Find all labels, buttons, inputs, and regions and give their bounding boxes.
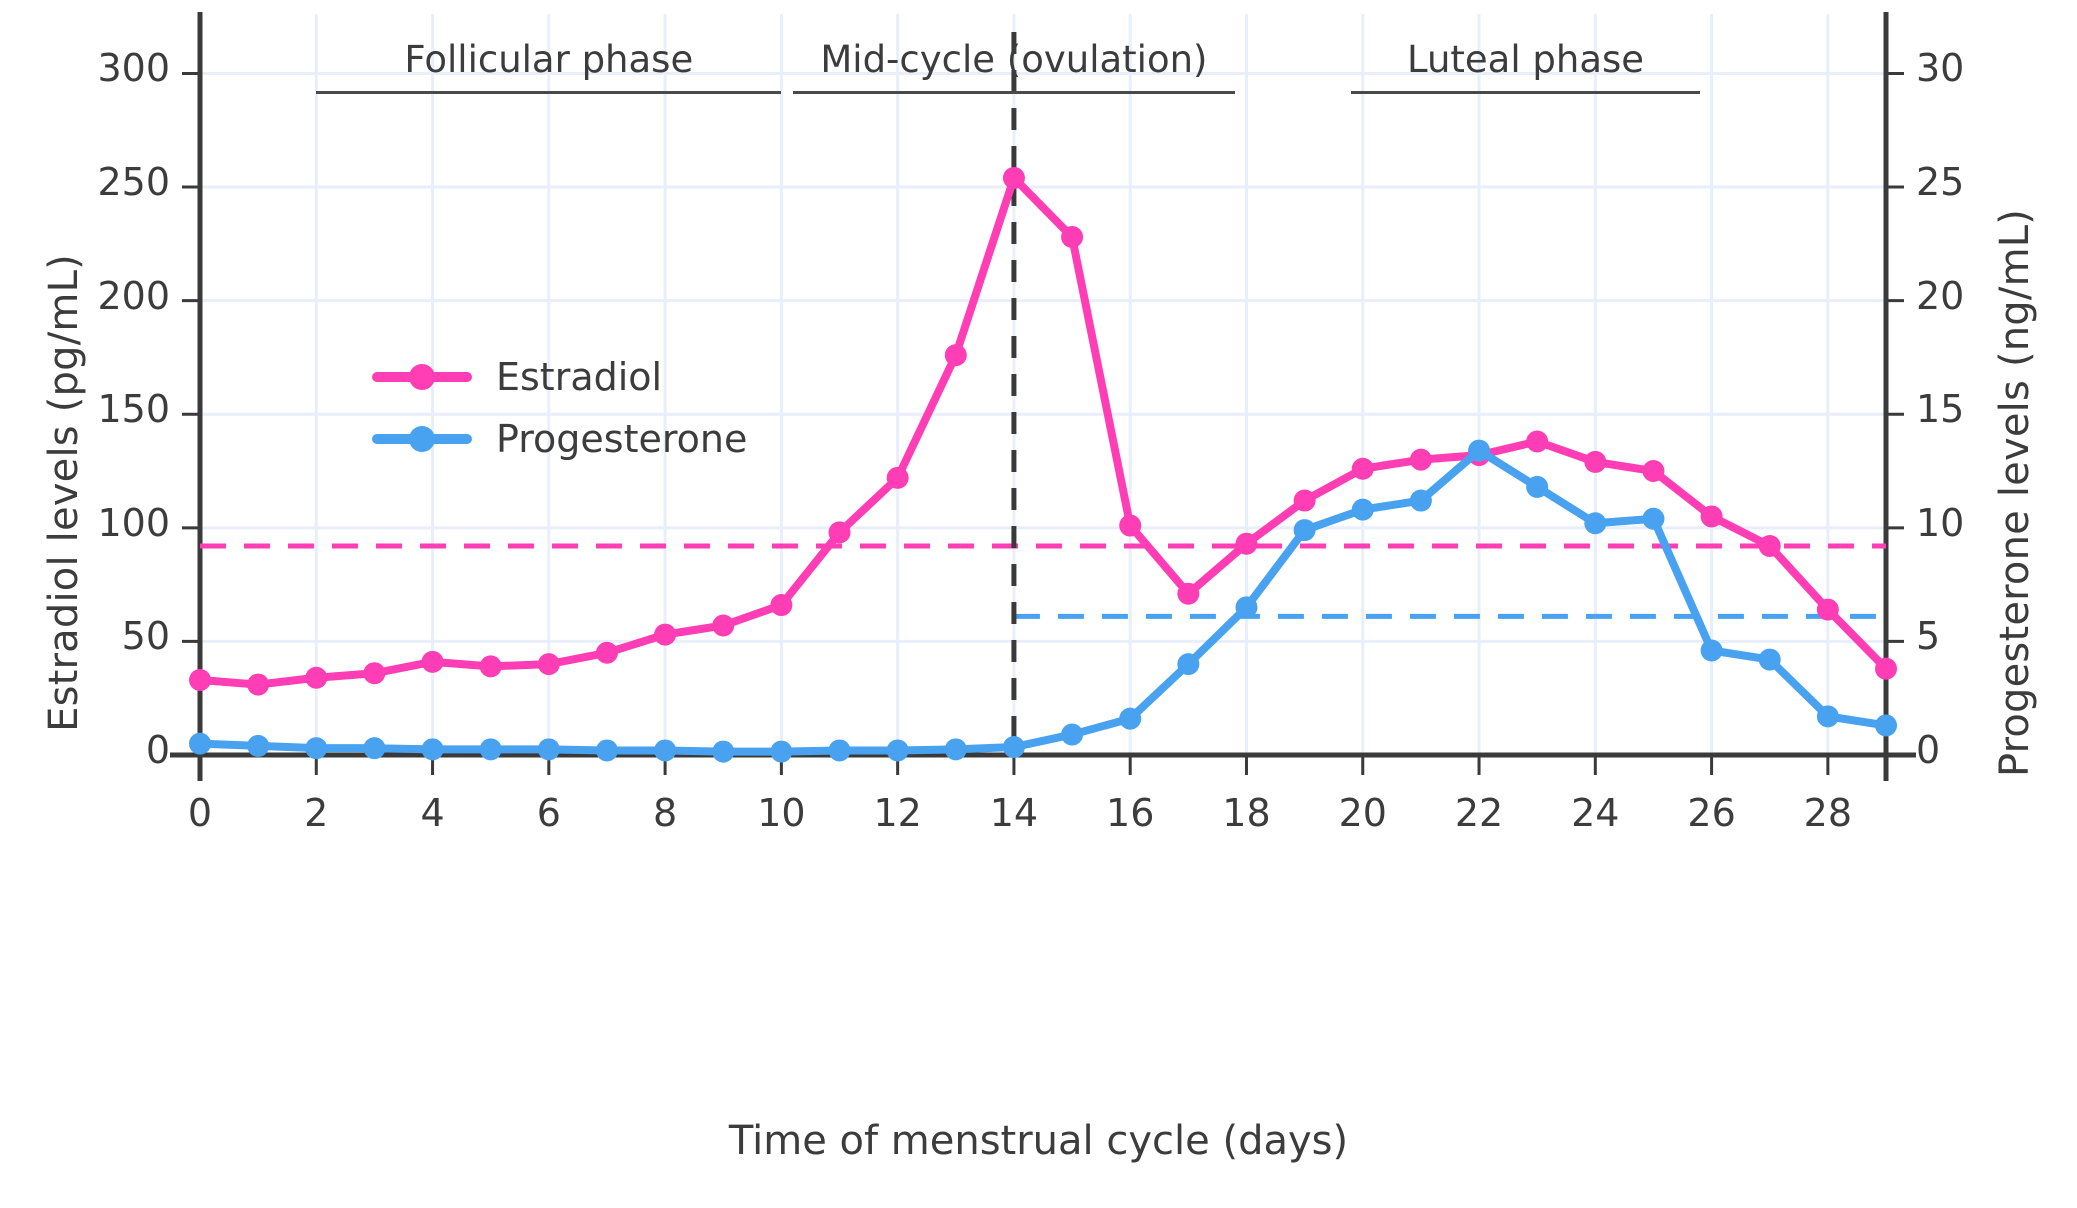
chart-canvas: Estradiol levels (pg/mL) Progesterone le…	[0, 0, 2077, 1208]
data-point-estradiol	[712, 615, 734, 637]
y-axis-right-tick-label: 30	[1916, 46, 2066, 90]
data-point-progesterone	[945, 738, 967, 760]
plot-area	[0, 0, 2077, 1208]
data-point-estradiol	[1875, 658, 1897, 680]
data-point-progesterone	[1759, 649, 1781, 671]
data-point-estradiol	[654, 624, 676, 646]
data-point-estradiol	[305, 667, 327, 689]
data-point-estradiol	[1177, 583, 1199, 605]
phase-annotation-label: Mid-cycle (ovulation)	[820, 38, 1207, 81]
y-axis-left-tick-label: 150	[20, 387, 170, 431]
phase-annotation-luteal-phase: Luteal phase	[1351, 38, 1700, 94]
data-point-progesterone	[1584, 512, 1606, 534]
data-point-estradiol	[1061, 226, 1083, 248]
data-point-progesterone	[363, 737, 385, 759]
data-point-progesterone	[480, 738, 502, 760]
data-point-estradiol	[1003, 167, 1025, 189]
y-axis-left-tick-label: 200	[20, 274, 170, 318]
y-axis-right-tick-label: 10	[1916, 501, 2066, 545]
data-point-estradiol	[1294, 490, 1316, 512]
x-axis-tick-label: 16	[1070, 791, 1190, 835]
data-point-progesterone	[1003, 736, 1025, 758]
legend-item-estradiol[interactable]: Estradiol	[372, 346, 747, 408]
data-point-estradiol	[1759, 535, 1781, 557]
phase-annotation-rule	[793, 91, 1235, 94]
data-point-progesterone	[596, 739, 618, 761]
y-axis-left-tick-label: 50	[20, 614, 170, 658]
x-axis-tick-label: 4	[373, 791, 493, 835]
y-axis-right-tick-label: 0	[1916, 728, 2066, 772]
data-point-estradiol	[538, 653, 560, 675]
series-line-progesterone	[200, 451, 1886, 752]
y-axis-right-tick-label: 20	[1916, 274, 2066, 318]
data-point-estradiol	[945, 344, 967, 366]
legend-item-progesterone[interactable]: Progesterone	[372, 408, 747, 470]
x-axis-tick-label: 22	[1419, 791, 1539, 835]
x-axis-tick-label: 24	[1535, 791, 1655, 835]
x-axis-tick-label: 18	[1186, 791, 1306, 835]
data-point-estradiol	[1352, 458, 1374, 480]
x-axis-tick-label: 14	[954, 791, 1074, 835]
data-point-progesterone	[1352, 499, 1374, 521]
data-point-estradiol	[829, 521, 851, 543]
data-point-estradiol	[1410, 449, 1432, 471]
phase-annotation-mid-cycle-ovulation: Mid-cycle (ovulation)	[793, 38, 1235, 94]
data-point-progesterone	[1235, 596, 1257, 618]
x-axis-tick-label: 2	[256, 791, 376, 835]
legend-label: Progesterone	[496, 417, 747, 461]
y-axis-right-tick-label: 15	[1916, 387, 2066, 431]
phase-annotation-rule	[316, 91, 781, 94]
data-point-progesterone	[1119, 708, 1141, 730]
data-point-estradiol	[1235, 533, 1257, 555]
data-point-progesterone	[1177, 653, 1199, 675]
data-point-progesterone	[712, 741, 734, 763]
x-axis-tick-label: 28	[1768, 791, 1888, 835]
data-point-progesterone	[538, 738, 560, 760]
data-point-estradiol	[363, 662, 385, 684]
legend-swatch-estradiol	[372, 372, 472, 382]
y-axis-right-tick-label: 25	[1916, 160, 2066, 204]
data-point-progesterone	[1701, 639, 1723, 661]
data-point-estradiol	[1526, 430, 1548, 452]
legend-marker-dot	[409, 426, 435, 452]
data-point-estradiol	[247, 674, 269, 696]
x-axis-tick-label: 6	[489, 791, 609, 835]
data-point-progesterone	[1817, 705, 1839, 727]
data-point-estradiol	[480, 655, 502, 677]
x-axis-tick-label: 0	[140, 791, 260, 835]
data-point-estradiol	[887, 467, 909, 489]
y-axis-left-tick-label: 250	[20, 160, 170, 204]
x-axis-tick-label: 20	[1303, 791, 1423, 835]
x-axis-title: Time of menstrual cycle (days)	[0, 1118, 2077, 1164]
y-axis-right-tick-label: 5	[1916, 614, 2066, 658]
phase-annotation-label: Luteal phase	[1407, 38, 1644, 81]
data-point-estradiol	[1119, 515, 1141, 537]
data-point-estradiol	[1642, 460, 1664, 482]
data-point-progesterone	[305, 737, 327, 759]
data-point-estradiol	[189, 669, 211, 691]
chart-legend: EstradiolProgesterone	[372, 346, 747, 470]
data-point-progesterone	[654, 739, 676, 761]
phase-annotation-follicular-phase: Follicular phase	[316, 38, 781, 94]
phase-annotation-rule	[1351, 91, 1700, 94]
y-axis-left-tick-label: 0	[20, 728, 170, 772]
data-point-progesterone	[1875, 714, 1897, 736]
legend-marker-dot	[409, 364, 435, 390]
data-point-progesterone	[422, 738, 444, 760]
data-point-estradiol	[422, 651, 444, 673]
data-point-estradiol	[1701, 505, 1723, 527]
data-point-progesterone	[1294, 519, 1316, 541]
data-point-estradiol	[1584, 451, 1606, 473]
data-point-progesterone	[829, 739, 851, 761]
x-axis-tick-label: 26	[1652, 791, 1772, 835]
y-axis-left-tick-label: 100	[20, 501, 170, 545]
data-point-progesterone	[1468, 440, 1490, 462]
x-axis-tick-label: 12	[838, 791, 958, 835]
data-point-progesterone	[887, 739, 909, 761]
data-point-estradiol	[1817, 599, 1839, 621]
data-point-progesterone	[770, 741, 792, 763]
data-point-progesterone	[1526, 476, 1548, 498]
x-axis-tick-label: 8	[605, 791, 725, 835]
y-axis-left-tick-label: 300	[20, 46, 170, 90]
legend-label: Estradiol	[496, 355, 662, 399]
data-point-progesterone	[1410, 490, 1432, 512]
x-axis-tick-label: 10	[721, 791, 841, 835]
data-point-progesterone	[189, 733, 211, 755]
phase-annotation-label: Follicular phase	[404, 38, 693, 81]
data-point-progesterone	[1061, 724, 1083, 746]
legend-swatch-progesterone	[372, 434, 472, 444]
data-point-estradiol	[596, 642, 618, 664]
data-point-estradiol	[770, 594, 792, 616]
data-point-progesterone	[1642, 508, 1664, 530]
data-point-progesterone	[247, 735, 269, 757]
